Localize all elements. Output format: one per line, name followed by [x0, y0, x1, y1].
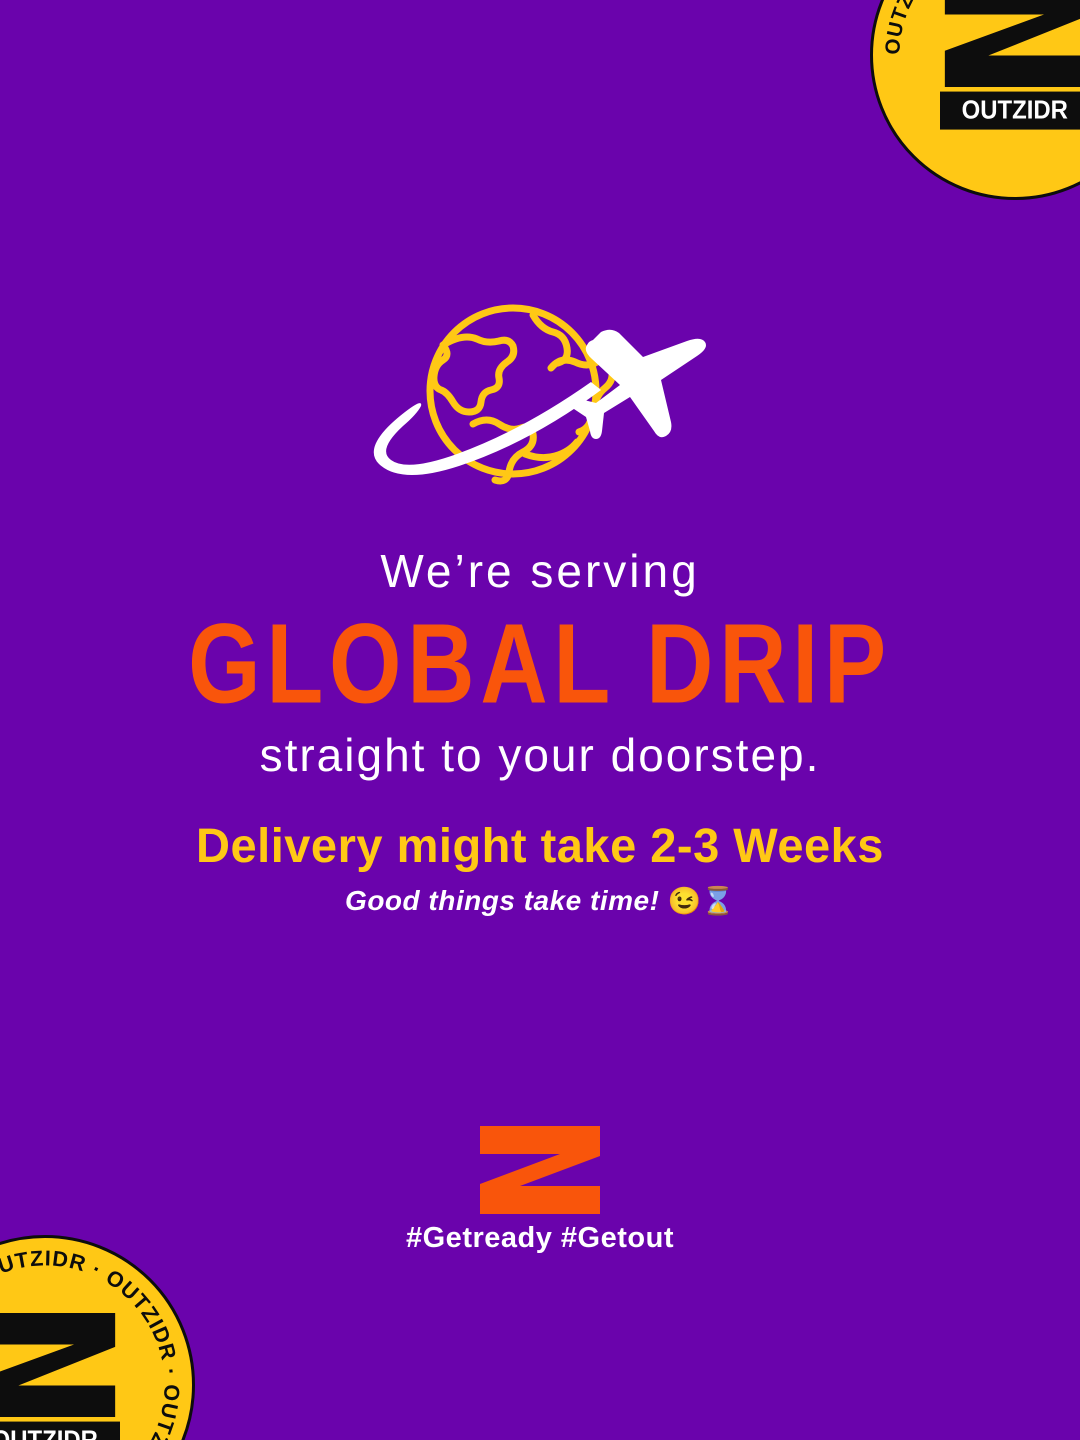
delivery-timeframe-text: Delivery might take 2-3 Weeks	[11, 822, 1069, 872]
delivery-subtext-label: Good things take time!	[345, 885, 659, 916]
headline-line-1: We’re serving	[0, 548, 1080, 594]
footer-brand-block: #Getready #Getout	[0, 1124, 1080, 1253]
outzidr-z-logo	[478, 1124, 602, 1216]
outzidr-badge-bottom-left: OUTZIDR · OUTZIDR · OUTZIDR · OUTZIDR · …	[0, 1235, 195, 1440]
globe-airplane-icon	[365, 272, 715, 522]
badge-wordmark: OUTZIDR	[962, 96, 1068, 122]
headline-line-2: GLOBAL DRIP	[16, 608, 1064, 721]
badge-wordmark: OUTZIDR	[0, 1426, 98, 1440]
headline-block: We’re serving GLOBAL DRIP straight to yo…	[0, 548, 1080, 778]
badge-core-top-right: OUTZIDR	[940, 0, 1080, 129]
outzidr-z-icon	[0, 1311, 120, 1420]
badge-wordmark-bar: OUTZIDR	[0, 1421, 120, 1440]
outzidr-z-icon	[940, 0, 1080, 89]
delivery-subtext: Good things take time! 😉⌛	[0, 886, 1080, 917]
outzidr-badge-top-right: OUTZIDR · OUTZIDR · OUTZIDR · OUTZIDR · …	[870, 0, 1080, 200]
wink-hourglass-emoji: 😉⌛	[668, 886, 735, 916]
badge-wordmark-bar: OUTZIDR	[940, 91, 1080, 129]
delivery-notice-block: Delivery might take 2-3 Weeks Good thing…	[0, 822, 1080, 917]
promo-poster: OUTZIDR · OUTZIDR · OUTZIDR · OUTZIDR · …	[0, 0, 1080, 1440]
footer-hashtags: #Getready #Getout	[0, 1224, 1080, 1253]
badge-core-bottom-left: OUTZIDR	[0, 1311, 120, 1440]
headline-line-3: straight to your doorstep.	[0, 732, 1080, 778]
